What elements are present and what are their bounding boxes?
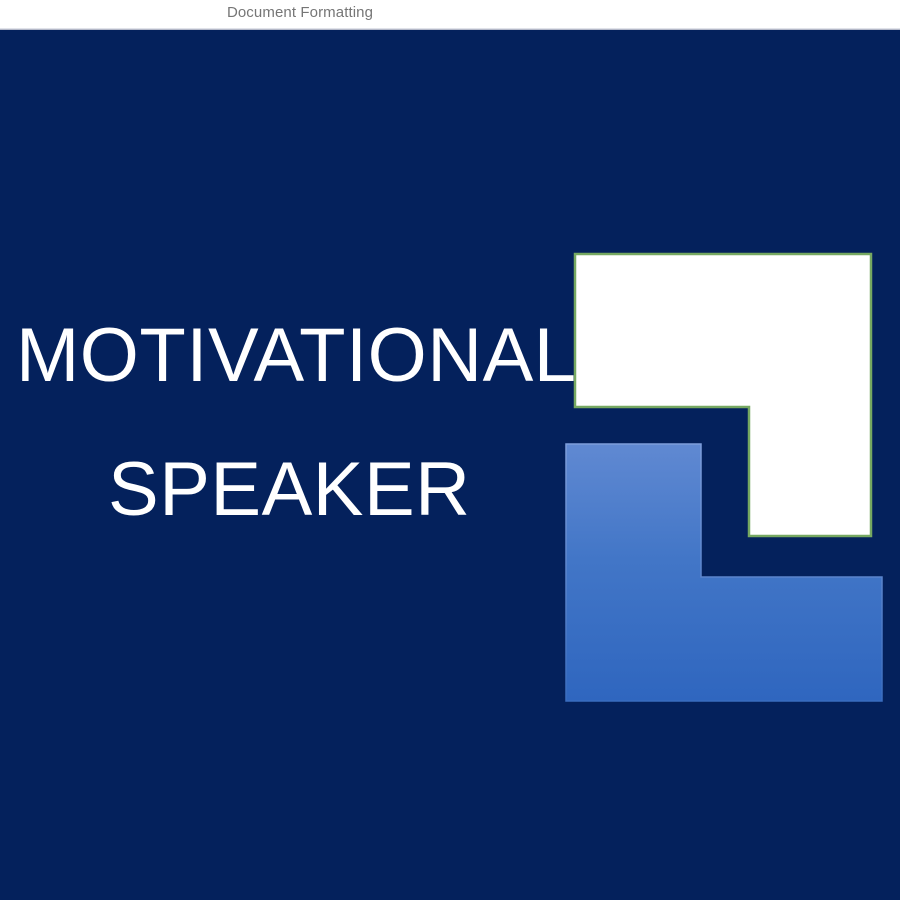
headline-line-2: SPEAKER bbox=[108, 452, 471, 528]
slide-preview-window: Document Formatting bbox=[0, 0, 900, 900]
window-titlebar: Document Formatting bbox=[0, 0, 900, 28]
headline-line-1: MOTIVATIONAL bbox=[16, 318, 577, 394]
blue-l-shape[interactable] bbox=[562, 411, 886, 707]
window-title: Document Formatting bbox=[0, 4, 600, 21]
slide-canvas[interactable]: MOTIVATIONAL SPEAKER bbox=[0, 30, 900, 900]
